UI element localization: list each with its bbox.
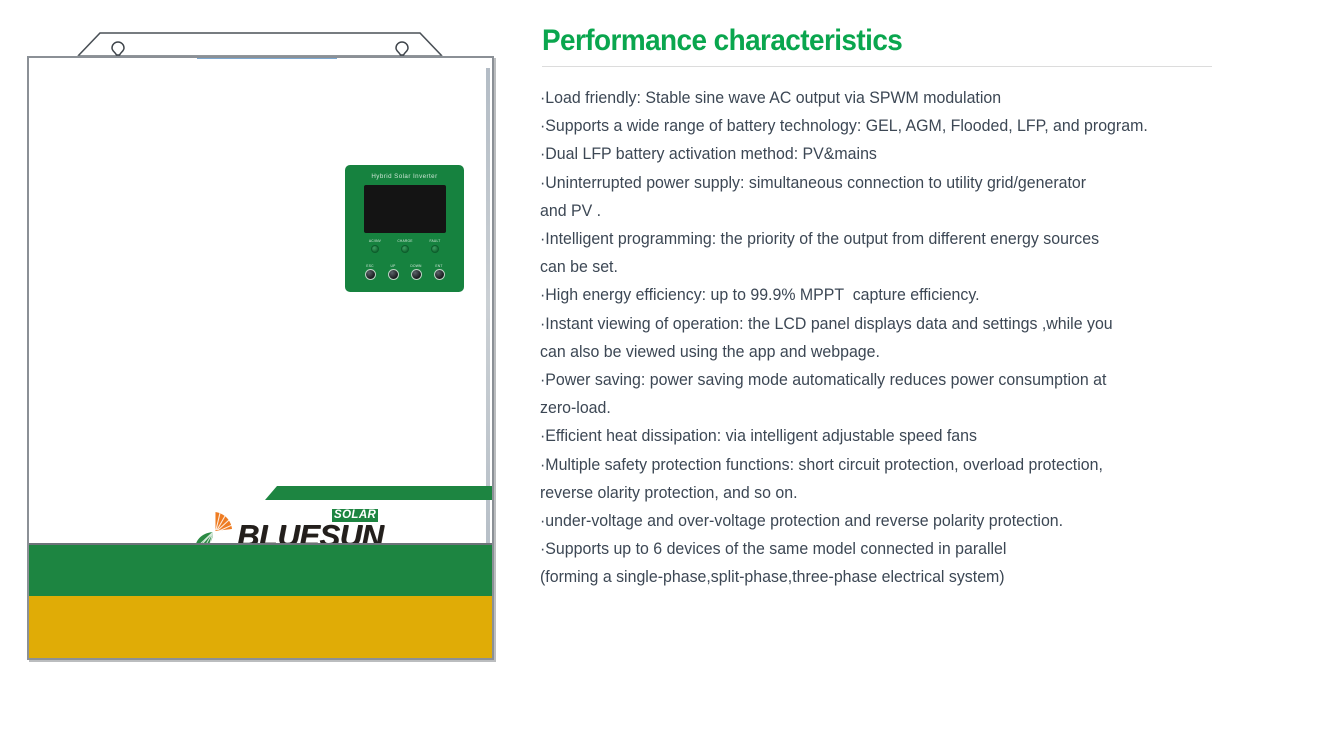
feature-line: and PV .	[540, 197, 1300, 225]
inverter-chassis: Hybrid Solar Inverter AC/INV CHARGE FAU	[27, 56, 494, 660]
panel-button-down[interactable]: DOWN	[405, 264, 427, 280]
feature-line: ·Multiple safety protection functions: s…	[540, 451, 1300, 479]
control-panel[interactable]: Hybrid Solar Inverter AC/INV CHARGE FAU	[345, 165, 464, 292]
chassis-right-edge-highlight	[486, 68, 490, 588]
feature-line: ·High energy efficiency: up to 99.9% MPP…	[540, 281, 1300, 309]
product-illustration: Hybrid Solar Inverter AC/INV CHARGE FAU	[0, 0, 520, 738]
panel-button-esc[interactable]: ESC	[359, 264, 381, 280]
chassis-top-seam	[197, 57, 337, 59]
title-divider	[542, 66, 1212, 67]
wall-mount-bracket-icon	[76, 30, 444, 58]
feature-line: reverse olarity protection, and so on.	[540, 479, 1300, 507]
led-dot-icon	[371, 245, 379, 253]
yellow-band	[29, 596, 492, 658]
feature-line: ·Supports up to 6 devices of the same mo…	[540, 535, 1300, 563]
feature-line: ·Intelligent programming: the priority o…	[540, 225, 1300, 253]
feature-line: ·Load friendly: Stable sine wave AC outp…	[540, 84, 1300, 112]
feature-line: ·Power saving: power saving mode automat…	[540, 366, 1300, 394]
feature-list: ·Load friendly: Stable sine wave AC outp…	[540, 84, 1328, 592]
feature-line: ·Instant viewing of operation: the LCD p…	[540, 310, 1300, 338]
page-root: Hybrid Solar Inverter AC/INV CHARGE FAU	[0, 0, 1328, 738]
round-button-icon	[365, 269, 376, 280]
feature-line: can also be viewed using the app and web…	[540, 338, 1300, 366]
control-panel-title: Hybrid Solar Inverter	[345, 173, 464, 180]
led-dot-icon	[431, 245, 439, 253]
feature-line: zero-load.	[540, 394, 1300, 422]
lcd-display	[364, 185, 446, 233]
feature-line: ·Efficient heat dissipation: via intelli…	[540, 422, 1300, 450]
led-indicator-row: AC/INV CHARGE FAULT	[362, 239, 448, 259]
led-ac-inv: AC/INV	[362, 239, 388, 253]
panel-button-enter[interactable]: ENT	[428, 264, 450, 280]
panel-button-up[interactable]: UP	[382, 264, 404, 280]
round-button-icon	[411, 269, 422, 280]
control-button-row: ESC UP DOWN ENT	[359, 264, 451, 286]
led-dot-icon	[401, 245, 409, 253]
feature-line: (forming a single-phase,split-phase,thre…	[540, 563, 1300, 591]
led-charge: CHARGE	[392, 239, 418, 253]
page-title: Performance characteristics	[542, 24, 902, 58]
green-band	[29, 545, 492, 596]
feature-line: can be set.	[540, 253, 1300, 281]
feature-line: ·Dual LFP battery activation method: PV&…	[540, 140, 1300, 168]
led-fault: FAULT	[422, 239, 448, 253]
decor-stripe-upper	[265, 486, 494, 500]
feature-line: ·Supports a wide range of battery techno…	[540, 112, 1300, 140]
feature-line: ·under-voltage and over-voltage protecti…	[540, 507, 1300, 535]
round-button-icon	[388, 269, 399, 280]
round-button-icon	[434, 269, 445, 280]
content-column: Performance characteristics ·Load friend…	[540, 0, 1328, 738]
feature-line: ·Uninterrupted power supply: simultaneou…	[540, 169, 1300, 197]
